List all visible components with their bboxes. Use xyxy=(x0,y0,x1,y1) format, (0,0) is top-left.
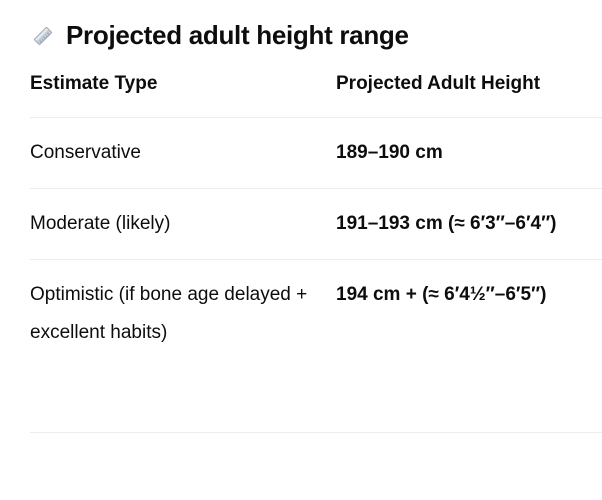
page-title-text: Projected adult height range xyxy=(66,21,409,51)
column-header-projected-adult-height: Projected Adult Height xyxy=(336,71,602,117)
cell-projected-adult-height: 194 cm + (≈ 6′4½″–6′5″) xyxy=(336,259,602,432)
table-body: Conservative 189–190 cm Moderate (likely… xyxy=(30,117,602,432)
cell-projected-adult-height: 189–190 cm xyxy=(336,117,602,188)
document-body: Projected adult height range Estimate Ty… xyxy=(0,0,602,500)
projected-height-table: Estimate Type Projected Adult Height Con… xyxy=(30,71,602,433)
ruler-icon xyxy=(30,23,56,49)
column-header-estimate-type: Estimate Type xyxy=(30,71,336,117)
table-row: Moderate (likely) 191–193 cm (≈ 6′3″–6′4… xyxy=(30,188,602,259)
cell-estimate-type: Moderate (likely) xyxy=(30,188,336,259)
page-title: Projected adult height range xyxy=(30,0,602,51)
table-scroll-container[interactable]: Estimate Type Projected Adult Height Con… xyxy=(30,71,602,433)
cell-estimate-type: Optimistic (if bone age delayed + excell… xyxy=(30,259,336,432)
table-row: Optimistic (if bone age delayed + excell… xyxy=(30,259,602,432)
cell-projected-adult-height: 191–193 cm (≈ 6′3″–6′4″) xyxy=(336,188,602,259)
table-row: Conservative 189–190 cm xyxy=(30,117,602,188)
cell-estimate-type: Conservative xyxy=(30,117,336,188)
table-header-row: Estimate Type Projected Adult Height xyxy=(30,71,602,117)
table-header: Estimate Type Projected Adult Height xyxy=(30,71,602,117)
